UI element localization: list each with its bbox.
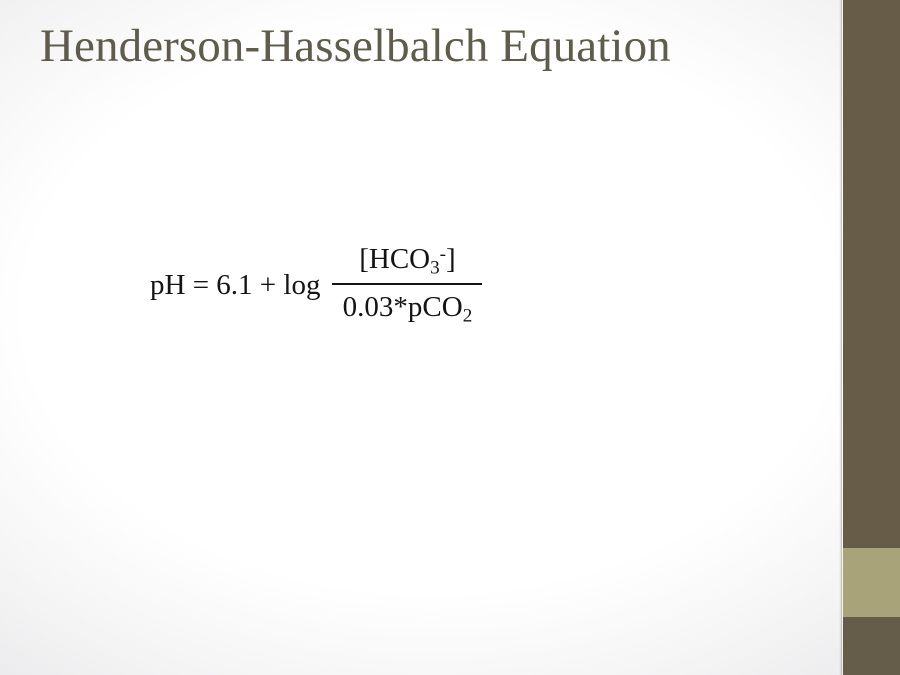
title-block: Henderson-Hasselbalch Equation xyxy=(40,14,680,78)
page-title: Henderson-Hasselbalch Equation xyxy=(40,14,680,78)
numerator-formula: HCO xyxy=(369,243,430,275)
numerator-subscript: 3 xyxy=(430,257,440,278)
equation-left-hand-side: pH = 6.1 + log xyxy=(150,269,320,300)
decorative-sidebar xyxy=(843,0,900,675)
slide-canvas: Henderson-Hasselbalch Equation pH = 6.1 … xyxy=(0,0,900,675)
equation-container: pH = 6.1 + log [HCO3-] 0.03*pCO2 xyxy=(150,242,770,328)
fraction-numerator: [HCO3-] xyxy=(351,242,464,283)
background-vignette xyxy=(0,0,900,675)
sidebar-edge-shadow xyxy=(839,0,842,675)
denominator-subscript: 2 xyxy=(463,305,473,326)
sidebar-band-bottom xyxy=(843,617,900,675)
numerator-open-bracket: [ xyxy=(359,243,369,275)
sidebar-band-accent xyxy=(843,548,900,617)
numerator-close-bracket: ] xyxy=(446,243,456,275)
fraction: [HCO3-] 0.03*pCO2 xyxy=(332,242,482,328)
denominator-coefficient: 0.03*pCO xyxy=(343,291,463,323)
fraction-denominator: 0.03*pCO2 xyxy=(335,285,481,328)
sidebar-band-top xyxy=(843,0,900,548)
